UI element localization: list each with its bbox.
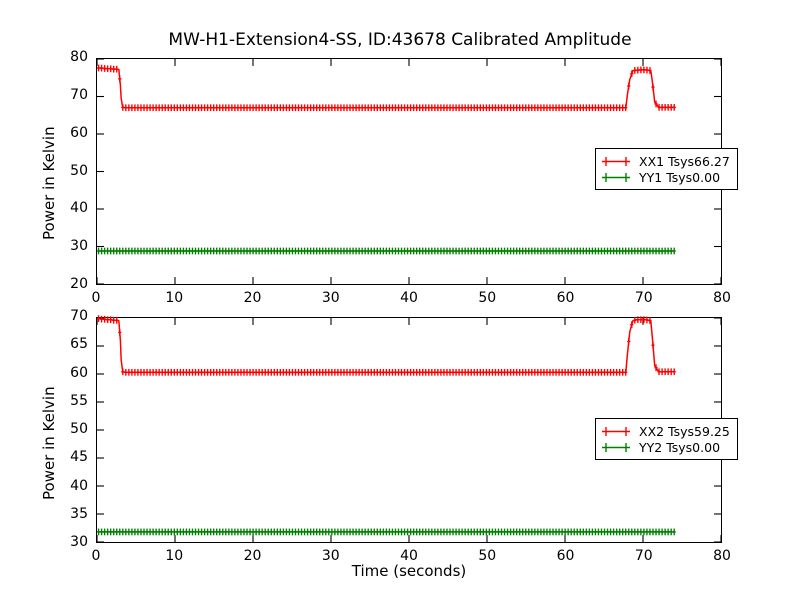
- y-axis-label-top: Power in Kelvin: [40, 126, 58, 240]
- y-tick-label: 80: [48, 49, 88, 65]
- x-tick-label: 50: [467, 290, 507, 306]
- page-title: MW-H1-Extension4-SS, ID:43678 Calibrated…: [0, 30, 800, 50]
- legend-top: XX1 Tsys66.27 YY1 Tsys0.00: [595, 148, 738, 190]
- x-tick-label: 0: [76, 290, 116, 306]
- y-tick-label: 70: [48, 308, 88, 324]
- y-axis-label-bottom: Power in Kelvin: [40, 386, 58, 500]
- legend-label-xx2: XX2 Tsys59.25: [639, 424, 730, 439]
- legend-label-yy1: YY1 Tsys0.00: [639, 170, 720, 185]
- legend-label-yy2: YY2 Tsys0.00: [639, 440, 720, 455]
- x-tick-label: 20: [233, 290, 273, 306]
- legend-item: XX1 Tsys66.27: [601, 153, 730, 169]
- legend-item: YY2 Tsys0.00: [601, 439, 730, 455]
- figure: MW-H1-Extension4-SS, ID:43678 Calibrated…: [0, 0, 800, 600]
- legend-item: YY1 Tsys0.00: [601, 169, 730, 185]
- y-tick-label: 60: [48, 365, 88, 381]
- y-tick-label: 30: [48, 534, 88, 550]
- legend-key-yy1-icon: [601, 172, 631, 183]
- y-tick-label: 20: [48, 276, 88, 292]
- legend-key-xx2-icon: [601, 426, 631, 437]
- y-tick-label: 30: [48, 238, 88, 254]
- x-tick-label: 70: [624, 290, 664, 306]
- legend-bottom: XX2 Tsys59.25 YY2 Tsys0.00: [595, 418, 738, 460]
- x-axis-label-bottom: Time (seconds): [96, 562, 722, 580]
- legend-item: XX2 Tsys59.25: [601, 423, 730, 439]
- y-tick-label: 35: [48, 506, 88, 522]
- legend-label-xx1: XX1 Tsys66.27: [639, 154, 730, 169]
- legend-key-xx1-icon: [601, 156, 631, 167]
- y-tick-label: 65: [48, 336, 88, 352]
- x-tick-label: 60: [546, 290, 586, 306]
- x-tick-label: 80: [702, 290, 742, 306]
- x-tick-label: 40: [389, 290, 429, 306]
- x-tick-label: 30: [311, 290, 351, 306]
- x-tick-label: 10: [154, 290, 194, 306]
- y-tick-label: 70: [48, 87, 88, 103]
- legend-key-yy2-icon: [601, 442, 631, 453]
